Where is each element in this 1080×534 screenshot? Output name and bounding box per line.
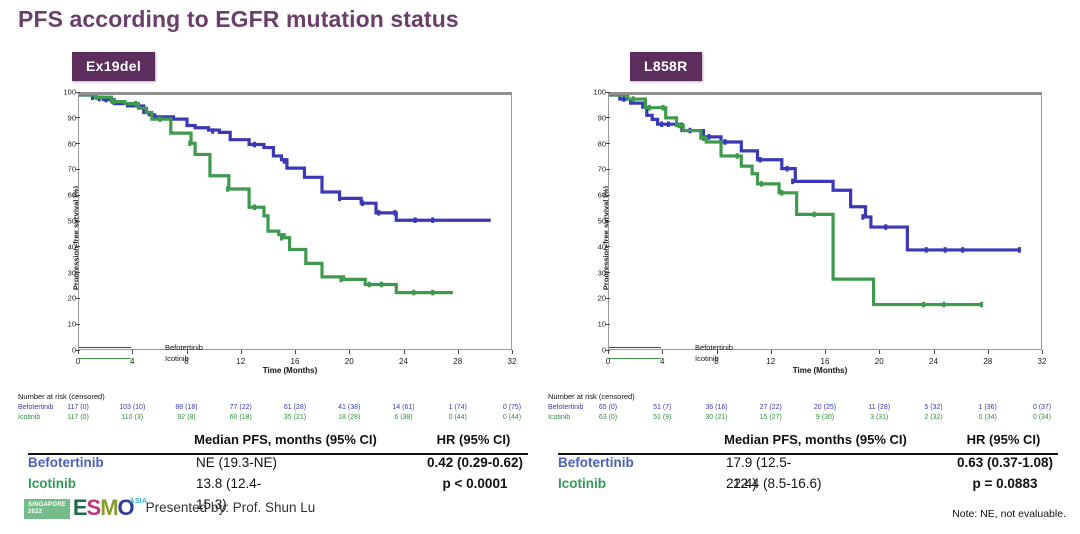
esmo-asia-logo: SINGAPORE 2022 ESMOASIA — [24, 495, 134, 519]
risk-table-l858r: Number at risk (censored) Befotertinib 6… — [548, 392, 1060, 423]
km-curves-l858r — [609, 95, 1041, 349]
risk-cell: 41 (38) — [338, 403, 360, 413]
risk-cell: 11 (28) — [868, 403, 890, 413]
y-tick-mark — [76, 195, 80, 196]
x-axis-tick: 16 — [821, 357, 830, 366]
risk-cell: 103 (10) — [119, 403, 145, 413]
risk-cell: 2 (32) — [924, 413, 942, 423]
y-tick-mark — [76, 324, 80, 325]
legend-item-befotertinib: Befotertinib — [79, 342, 203, 353]
risk-cell: 30 (21) — [705, 413, 727, 423]
results-median-value: 17.9 (12.5- — [726, 455, 791, 470]
risk-cell: 3 (31) — [870, 413, 888, 423]
y-axis-tick: 40 — [68, 242, 76, 251]
results-row-icotinib: Icotinib 22.4) 12.4 (8.5-16.6) p = 0.088… — [558, 476, 1058, 497]
y-axis-tick: 30 — [68, 268, 76, 277]
y-tick-mark — [76, 169, 80, 170]
x-tick-mark — [512, 350, 513, 354]
esmo-letter-m: M — [100, 495, 117, 520]
risk-cell: 0 (44) — [449, 413, 467, 423]
results-hr-value: 0.42 (0.29-0.62) — [416, 455, 534, 470]
y-tick-mark — [606, 92, 610, 93]
y-tick-mark — [606, 195, 610, 196]
y-axis-tick: 0 — [72, 346, 76, 355]
y-tick-mark — [606, 272, 610, 273]
risk-cell: 1 (36) — [979, 403, 997, 413]
y-axis-tick: 90 — [68, 113, 76, 122]
risk-row-label: Befotertinib — [18, 403, 53, 413]
risk-cell: 18 (28) — [338, 413, 360, 423]
footer: SINGAPORE 2022 ESMOASIA Presented by: Pr… — [24, 495, 315, 519]
legend-line-icon — [79, 347, 131, 348]
panel-badge-l858r: L858R — [630, 52, 702, 81]
y-tick-mark — [76, 298, 80, 299]
risk-row-icotinib: Icotinib 63 (0)51 (9)30 (21)15 (27)9 (30… — [548, 413, 1060, 423]
presented-by-text: Presented by: Prof. Shun Lu — [146, 500, 316, 515]
risk-table-ex19del: Number at risk (censored) Befotertinib 1… — [18, 392, 530, 423]
esmo-region-label: ASIA — [130, 499, 148, 506]
slide-root: PFS according to EGFR mutation status Ex… — [0, 0, 1080, 534]
x-tick-mark — [608, 350, 609, 354]
y-tick-mark — [76, 143, 80, 144]
esmo-letter-s: S — [87, 495, 101, 520]
results-header-median: Median PFS, months (95% CI) — [158, 432, 413, 447]
legend-line-icon — [79, 358, 131, 359]
y-axis-tick: 90 — [598, 113, 606, 122]
x-axis-tick: 0 — [76, 357, 80, 366]
x-tick-mark — [825, 350, 826, 354]
risk-cell: 0 (75) — [503, 403, 521, 413]
x-tick-mark — [78, 350, 79, 354]
y-tick-mark — [606, 246, 610, 247]
x-axis-title: Time (Months) — [30, 366, 520, 375]
x-axis-tick: 24 — [399, 357, 408, 366]
risk-cell: 77 (22) — [230, 403, 252, 413]
risk-cell: 92 (8) — [177, 413, 195, 423]
x-axis-title: Time (Months) — [560, 366, 1050, 375]
chart-l858r: Progression-free survival (%) Befotertin… — [560, 88, 1050, 388]
risk-cell: 1 (74) — [449, 403, 467, 413]
x-tick-mark — [349, 350, 350, 354]
esmo-letter-e: E — [73, 495, 87, 520]
y-tick-mark — [76, 246, 80, 247]
x-axis-tick: 4 — [130, 357, 134, 366]
results-pvalue: p < 0.0001 — [416, 476, 534, 491]
y-axis-tick: 30 — [598, 268, 606, 277]
risk-cell: 61 (28) — [284, 403, 306, 413]
x-axis-tick: 24 — [929, 357, 938, 366]
results-row-label: Icotinib — [558, 476, 606, 491]
y-tick-mark — [76, 92, 80, 93]
risk-cell: 5 (32) — [924, 403, 942, 413]
risk-row-befotertinib: Befotertinib 117 (0)103 (10)88 (18)77 (2… — [18, 403, 530, 413]
risk-cell: 51 (9) — [653, 413, 671, 423]
risk-cell: 88 (18) — [175, 403, 197, 413]
results-row-icotinib: Icotinib 13.8 (12.4- p < 0.0001 — [28, 476, 528, 497]
x-tick-mark — [187, 350, 188, 354]
y-axis-tick: 0 — [602, 346, 606, 355]
risk-row-befotertinib: Befotertinib 65 (0)51 (7)36 (16)27 (22)2… — [548, 403, 1060, 413]
esmo-wordmark: ESMOASIA — [73, 498, 134, 519]
x-tick-mark — [241, 350, 242, 354]
y-axis-tick: 70 — [68, 165, 76, 174]
x-tick-mark — [458, 350, 459, 354]
risk-cell: 65 (0) — [599, 403, 617, 413]
x-axis-tick: 20 — [875, 357, 884, 366]
results-pvalue: p = 0.0883 — [946, 476, 1064, 491]
x-tick-mark — [934, 350, 935, 354]
y-axis-tick: 20 — [68, 294, 76, 303]
y-axis-tick: 40 — [598, 242, 606, 251]
x-tick-mark — [717, 350, 718, 354]
results-row-label: Icotinib — [28, 476, 76, 491]
y-tick-mark — [606, 117, 610, 118]
results-header-row: Median PFS, months (95% CI) HR (95% CI) — [28, 432, 528, 452]
results-header-row: Median PFS, months (95% CI) HR (95% CI) — [558, 432, 1058, 452]
results-row-label: Befotertinib — [558, 455, 634, 470]
y-axis-tick: 10 — [598, 320, 606, 329]
km-curve-icotinib — [79, 95, 453, 293]
km-curve-icotinib — [609, 95, 983, 305]
y-axis-tick: 20 — [598, 294, 606, 303]
x-tick-mark — [771, 350, 772, 354]
risk-row-label: Icotinib — [18, 413, 40, 423]
risk-row-icotinib: Icotinib 117 (0)110 (3)92 (8)60 (18)35 (… — [18, 413, 530, 423]
x-axis-tick: 0 — [606, 357, 610, 366]
results-row-befotertinib: Befotertinib NE (19.3-NE) 0.42 (0.29-0.6… — [28, 455, 528, 476]
results-hr-value: 0.63 (0.37-1.08) — [946, 455, 1064, 470]
results-header-hr: HR (95% CI) — [946, 432, 1061, 447]
y-axis-tick: 80 — [598, 139, 606, 148]
km-curves-ex19del — [79, 95, 511, 349]
y-tick-mark — [76, 117, 80, 118]
risk-cell: 0 (37) — [1033, 403, 1051, 413]
x-axis-tick: 20 — [345, 357, 354, 366]
x-tick-mark — [988, 350, 989, 354]
km-curve-befotertinib — [79, 95, 491, 220]
risk-cell: 27 (22) — [760, 403, 782, 413]
x-axis-tick: 8 — [714, 357, 718, 366]
risk-cell: 14 (61) — [392, 403, 414, 413]
legend-item-befotertinib: Befotertinib — [609, 342, 733, 353]
risk-cell: 9 (30) — [816, 413, 834, 423]
risk-cell: 0 (34) — [1033, 413, 1051, 423]
y-axis-tick: 60 — [68, 191, 76, 200]
legend-label: Befotertinib — [695, 343, 733, 352]
logo-year: 2022 — [28, 509, 66, 516]
risk-cell: 60 (18) — [230, 413, 252, 423]
x-axis-tick: 32 — [1038, 357, 1047, 366]
risk-cell: 0 (34) — [979, 413, 997, 423]
results-row-label: Befotertinib — [28, 455, 104, 470]
x-tick-mark — [132, 350, 133, 354]
x-axis-tick: 16 — [291, 357, 300, 366]
results-header-median: Median PFS, months (95% CI) — [688, 432, 943, 447]
panel-badge-ex19del: Ex19del — [72, 52, 155, 81]
plot-area-l858r — [608, 92, 1042, 350]
risk-cell: 15 (27) — [760, 413, 782, 423]
risk-row-label: Icotinib — [548, 413, 570, 423]
x-axis-tick: 28 — [983, 357, 992, 366]
chart-ex19del: Progression-free survival (%) Befotertin… — [30, 88, 520, 388]
risk-cell: 110 (3) — [121, 413, 143, 423]
x-axis-tick: 12 — [766, 357, 775, 366]
results-median-value: 13.8 (12.4- — [196, 476, 261, 491]
y-axis-tick: 100 — [593, 88, 606, 97]
y-tick-mark — [76, 272, 80, 273]
page-title: PFS according to EGFR mutation status — [18, 6, 459, 33]
results-table-l858r: Median PFS, months (95% CI) HR (95% CI) … — [558, 432, 1058, 497]
footnote-note: Note: NE, not evaluable. — [952, 508, 1066, 520]
risk-cell: 63 (0) — [599, 413, 617, 423]
risk-cell: 117 (0) — [67, 403, 89, 413]
y-axis-tick: 80 — [68, 139, 76, 148]
logo-city: SINGAPORE — [28, 502, 66, 509]
risk-table-header: Number at risk (censored) — [548, 392, 1060, 403]
results-header-hr: HR (95% CI) — [416, 432, 531, 447]
x-tick-mark — [879, 350, 880, 354]
legend-line-icon — [609, 358, 661, 359]
x-axis-tick: 28 — [453, 357, 462, 366]
y-axis-tick: 70 — [598, 165, 606, 174]
risk-row-label: Befotertinib — [548, 403, 583, 413]
results-row-befotertinib: Befotertinib 17.9 (12.5- 0.63 (0.37-1.08… — [558, 455, 1058, 476]
y-tick-mark — [606, 324, 610, 325]
x-tick-mark — [662, 350, 663, 354]
risk-cell: 0 (44) — [503, 413, 521, 423]
y-tick-mark — [606, 143, 610, 144]
y-tick-mark — [606, 298, 610, 299]
risk-cell: 51 (7) — [653, 403, 671, 413]
y-tick-mark — [606, 169, 610, 170]
y-axis-tick: 100 — [63, 88, 76, 97]
x-tick-mark — [295, 350, 296, 354]
results-median-value: 12.4 (8.5-16.6) — [733, 476, 822, 491]
risk-cell: 6 (38) — [394, 413, 412, 423]
y-axis-tick: 50 — [68, 217, 76, 226]
risk-cell: 36 (16) — [705, 403, 727, 413]
x-tick-mark — [1042, 350, 1043, 354]
x-axis-tick: 4 — [660, 357, 664, 366]
x-tick-mark — [404, 350, 405, 354]
risk-cell: 35 (21) — [284, 413, 306, 423]
x-axis-tick: 32 — [508, 357, 517, 366]
legend-line-icon — [609, 347, 661, 348]
risk-cell: 117 (0) — [67, 413, 89, 423]
singapore-2022-block: SINGAPORE 2022 — [24, 499, 70, 519]
risk-cell: 20 (25) — [814, 403, 836, 413]
legend-label: Befotertinib — [165, 343, 203, 352]
x-axis-tick: 12 — [236, 357, 245, 366]
y-axis-tick: 10 — [68, 320, 76, 329]
risk-table-header: Number at risk (censored) — [18, 392, 530, 403]
y-tick-mark — [606, 221, 610, 222]
y-tick-mark — [76, 221, 80, 222]
x-axis-tick: 8 — [184, 357, 188, 366]
y-axis-tick: 50 — [598, 217, 606, 226]
plot-area-ex19del — [78, 92, 512, 350]
y-axis-tick: 60 — [598, 191, 606, 200]
results-median-value: NE (19.3-NE) — [196, 455, 277, 470]
